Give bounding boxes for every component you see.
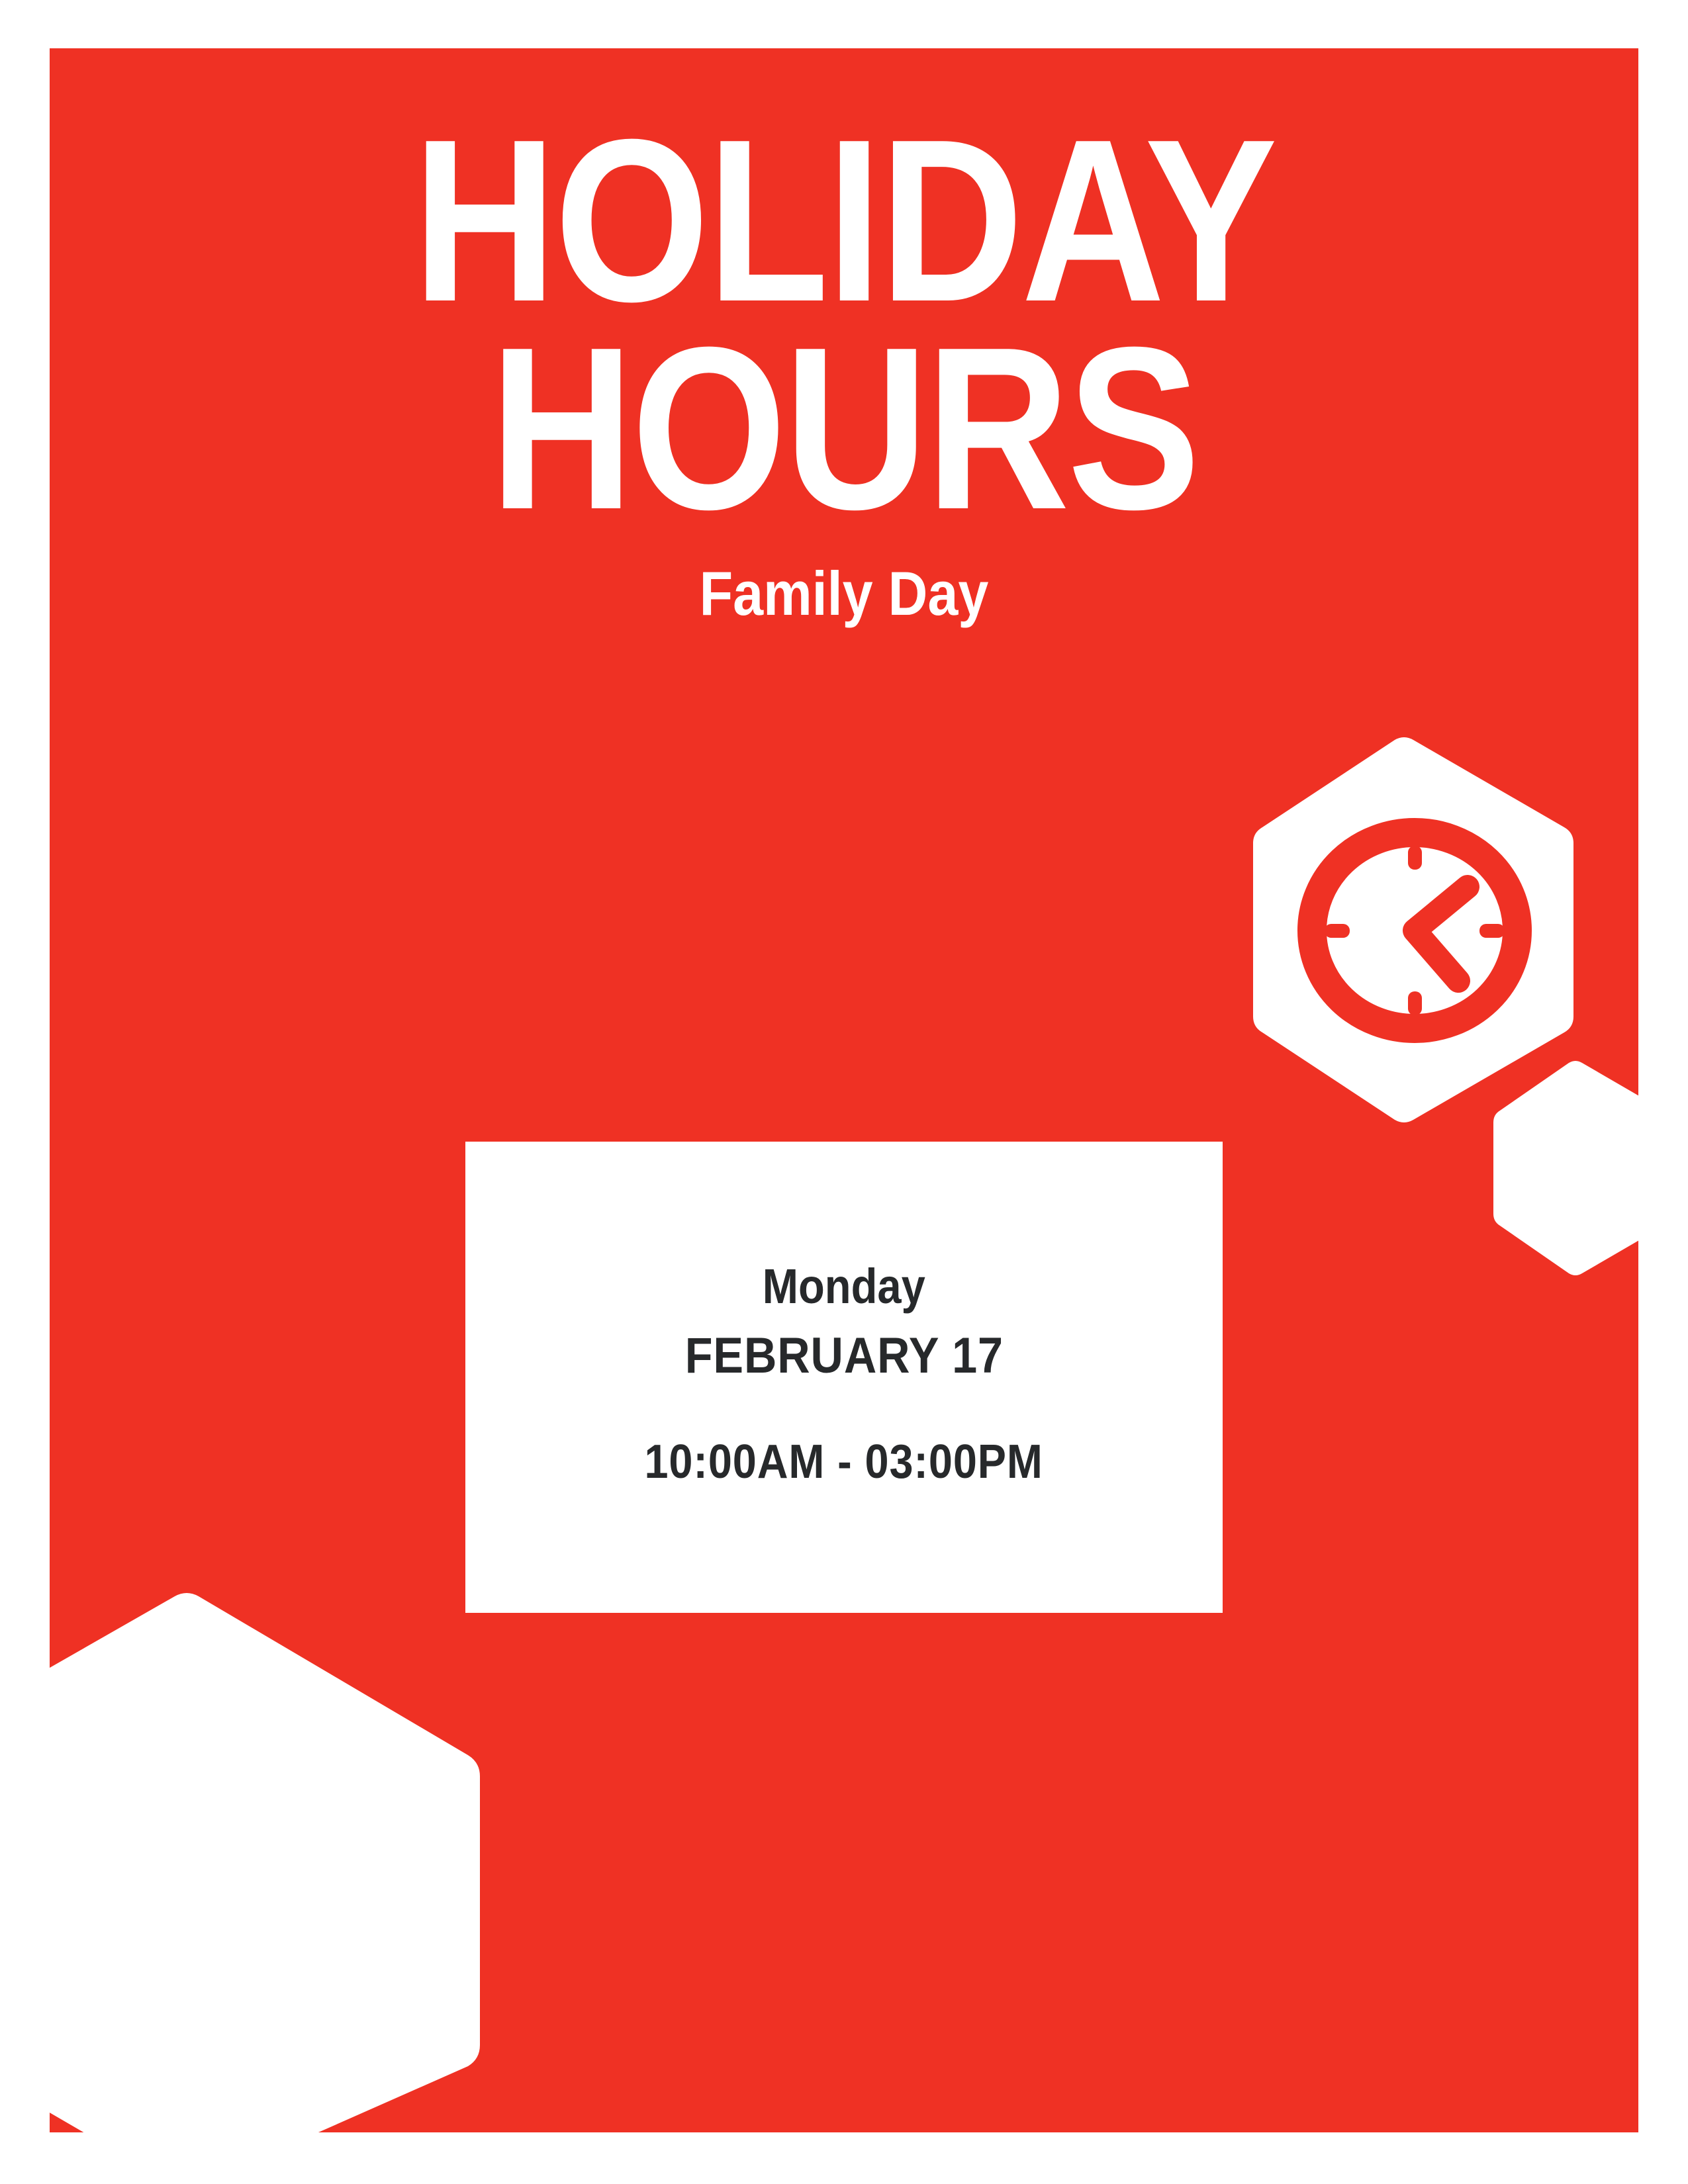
hexagon-corner-decoration-icon bbox=[50, 1522, 513, 2132]
info-card-day: Monday bbox=[763, 1262, 925, 1311]
info-card-date: FEBRUARY 17 bbox=[684, 1331, 1003, 1381]
info-card-hours: 10:00AM - 03:00PM bbox=[645, 1438, 1043, 1486]
holiday-info-card: Monday FEBRUARY 17 10:00AM - 03:00PM bbox=[465, 1142, 1223, 1613]
hexagon-decoration-icon bbox=[1489, 1059, 1638, 1277]
holiday-hours-poster: HOLIDAY HOURS Family Day Mo bbox=[0, 0, 1688, 2184]
